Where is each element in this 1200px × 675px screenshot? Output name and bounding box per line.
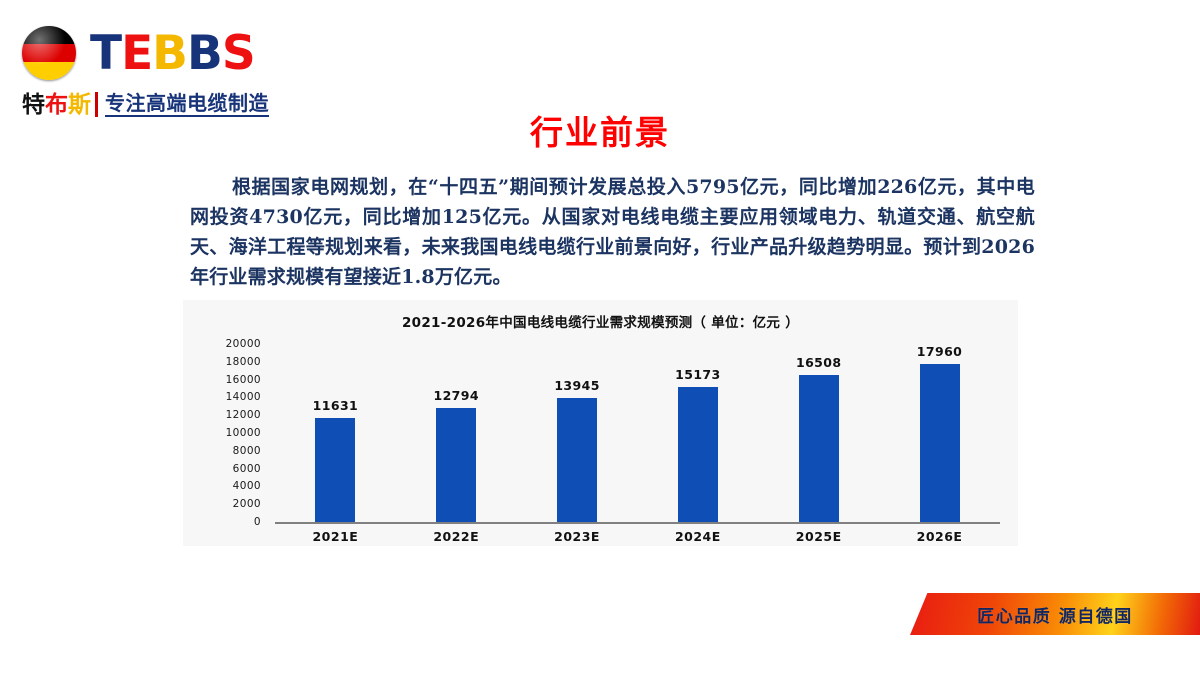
y-axis-tick: 14000 xyxy=(226,391,261,403)
bar-column: 139452023E xyxy=(517,344,638,522)
bottom-banner: 匠心品质 源自德国 xyxy=(910,593,1200,635)
y-axis-tick: 10000 xyxy=(226,427,261,439)
wordmark-letter-1: E xyxy=(121,30,152,77)
bar-value-label: 16508 xyxy=(796,355,842,370)
bar-rect[interactable] xyxy=(799,375,839,522)
y-axis-tick: 8000 xyxy=(233,445,261,457)
y-axis-tick: 12000 xyxy=(226,409,261,421)
wordmark-letter-2: B xyxy=(152,30,187,77)
chart-panel: 2021-2026年中国电线电缆行业需求规模预测（ 单位：亿元 ） 200001… xyxy=(183,300,1018,546)
x-axis-category-label: 2026E xyxy=(917,529,963,544)
x-axis-category-label: 2021E xyxy=(312,529,358,544)
y-axis-tick: 0 xyxy=(254,516,261,528)
brand-wordmark: TEBBS xyxy=(90,30,255,77)
y-axis-tick: 4000 xyxy=(233,480,261,492)
chart-y-axis: 2000018000160001400012000100008000600040… xyxy=(213,344,265,522)
bar-column: 116312021E xyxy=(275,344,396,522)
y-axis-tick: 2000 xyxy=(233,498,261,510)
bar-rect[interactable] xyxy=(920,364,960,522)
german-flag-circle-icon xyxy=(22,26,76,80)
x-axis-category-label: 2024E xyxy=(675,529,721,544)
x-axis-category-label: 2022E xyxy=(433,529,479,544)
bar-value-label: 17960 xyxy=(917,344,963,359)
bar-column: 165082025E xyxy=(758,344,879,522)
slide-canvas: TEBBS 特布斯 专注高端电缆制造 行业前景 根据国家电网规划，在“十四五”期… xyxy=(0,0,1200,675)
chart-title: 2021-2026年中国电线电缆行业需求规模预测（ 单位：亿元 ） xyxy=(183,311,1018,331)
y-axis-tick: 16000 xyxy=(226,374,261,386)
y-axis-tick: 6000 xyxy=(233,463,261,475)
chart-bars: 116312021E127942022E139452023E151732024E… xyxy=(275,344,1000,524)
logo-row: TEBBS xyxy=(22,24,322,82)
bar-rect[interactable] xyxy=(678,387,718,522)
y-axis-tick: 18000 xyxy=(226,356,261,368)
x-axis-category-label: 2023E xyxy=(554,529,600,544)
wordmark-letter-3: B xyxy=(187,30,222,77)
body-paragraph: 根据国家电网规划，在“十四五”期间预计发展总投入5795亿元，同比增加226亿元… xyxy=(190,172,1035,292)
bar-value-label: 13945 xyxy=(554,378,600,393)
bar-rect[interactable] xyxy=(557,398,597,522)
bar-value-label: 12794 xyxy=(433,388,479,403)
y-axis-tick: 20000 xyxy=(226,338,261,350)
brand-logo: TEBBS 特布斯 专注高端电缆制造 xyxy=(22,24,322,119)
bar-rect[interactable] xyxy=(436,408,476,522)
bar-value-label: 11631 xyxy=(313,398,359,413)
bar-value-label: 15173 xyxy=(675,367,721,382)
wordmark-letter-0: T xyxy=(90,30,121,77)
bar-column: 151732024E xyxy=(637,344,758,522)
page-title: 行业前景 xyxy=(0,106,1200,154)
x-axis-category-label: 2025E xyxy=(796,529,842,544)
bar-column: 127942022E xyxy=(396,344,517,522)
bar-column: 179602026E xyxy=(879,344,1000,522)
bottom-banner-text: 匠心品质 源自德国 xyxy=(977,602,1132,627)
chart-plot-area: 2000018000160001400012000100008000600040… xyxy=(213,344,1000,522)
wordmark-letter-4: S xyxy=(222,30,255,77)
bar-rect[interactable] xyxy=(315,418,355,522)
